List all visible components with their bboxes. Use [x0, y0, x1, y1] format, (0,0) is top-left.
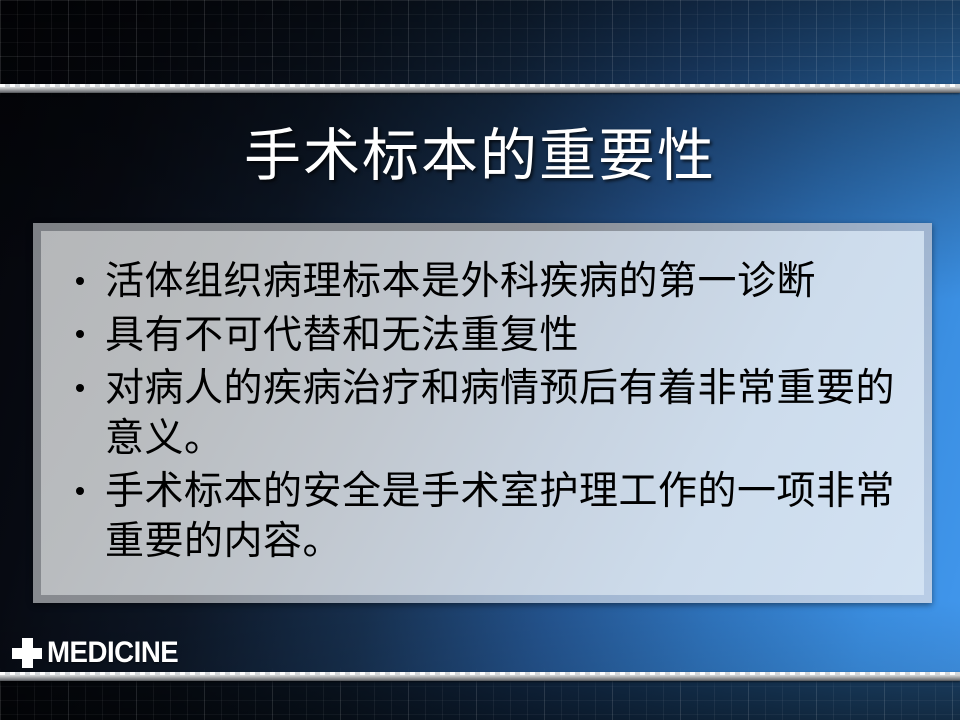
- bullet-dot-icon: [76, 277, 84, 285]
- bullet-text: 手术标本的安全是手术室护理工作的一项非常重要的内容。: [105, 470, 895, 563]
- footer-logo: MEDICINE: [12, 636, 190, 670]
- footer-brand-label: MEDICINE: [47, 638, 178, 668]
- bullet-dot-icon: [76, 330, 84, 338]
- bottom-divider-bar-sheen: [0, 672, 960, 675]
- content-panel: 活体组织病理标本是外科疾病的第一诊断 具有不可代替和无法重复性 对病人的疾病治疗…: [33, 223, 932, 603]
- bottom-divider-bar: [0, 672, 960, 681]
- bullet-text: 活体组织病理标本是外科疾病的第一诊断: [105, 260, 816, 303]
- bullet-dot-icon: [76, 487, 84, 495]
- top-divider-bar-sheen: [0, 84, 960, 87]
- presentation-slide: 手术标本的重要性 活体组织病理标本是外科疾病的第一诊断 具有不可代替和无法重复性…: [0, 0, 960, 720]
- bullet-text: 具有不可代替和无法重复性: [105, 314, 579, 357]
- list-item: 对病人的疾病治疗和病情预后有着非常重要的意义。: [67, 364, 902, 463]
- bullet-text: 对病人的疾病治疗和病情预后有着非常重要的意义。: [105, 367, 895, 460]
- slide-title: 手术标本的重要性: [0, 126, 960, 188]
- list-item: 活体组织病理标本是外科疾病的第一诊断: [67, 257, 902, 307]
- medical-cross-icon: [12, 638, 42, 668]
- content-panel-inner: 活体组织病理标本是外科疾病的第一诊断 具有不可代替和无法重复性 对病人的疾病治疗…: [41, 231, 924, 595]
- list-item: 手术标本的安全是手术室护理工作的一项非常重要的内容。: [67, 467, 902, 566]
- bullet-dot-icon: [76, 384, 84, 392]
- bullet-list: 活体组织病理标本是外科疾病的第一诊断 具有不可代替和无法重复性 对病人的疾病治疗…: [67, 257, 902, 566]
- list-item: 具有不可代替和无法重复性: [67, 311, 902, 361]
- top-divider-bar: [0, 84, 960, 93]
